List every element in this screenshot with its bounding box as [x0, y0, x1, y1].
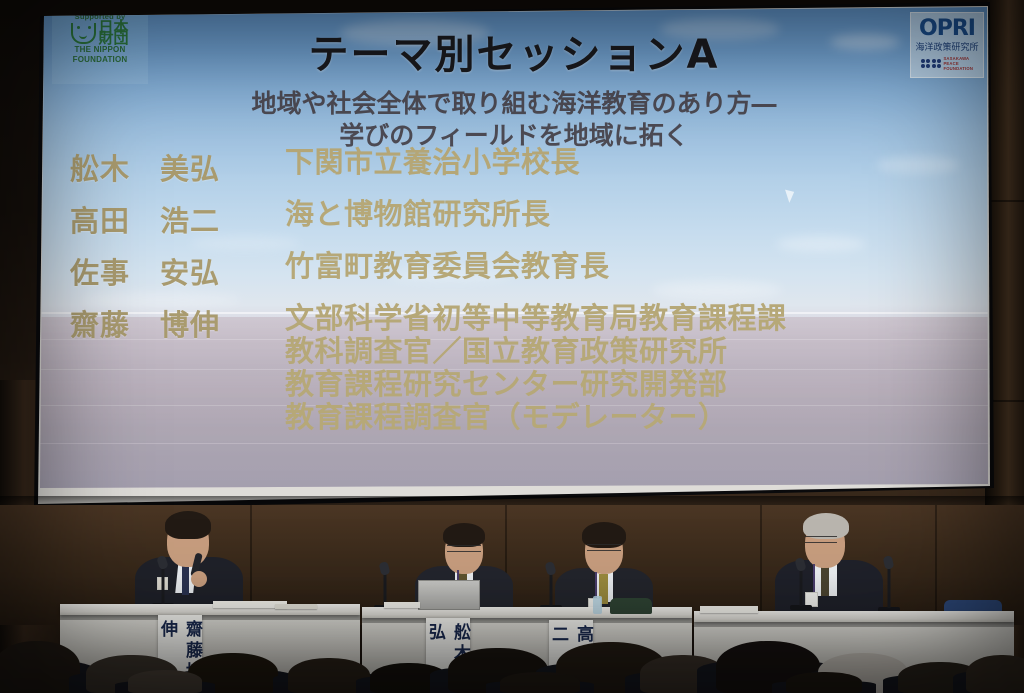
documents-left-2 — [275, 604, 317, 609]
audience-member — [0, 614, 80, 693]
projected-slide: テーマ別セッションA 地域や社会全体で取り組む海洋教育のあり方― 学びのフィール… — [40, 6, 988, 488]
sasakawa-foundation-name: SASAKAWA PEACE FOUNDATION — [943, 56, 973, 71]
speaker-affiliation: 文部科学省初等中等教育局教育課程課 教科調査官／国立教育政策研究所 教育課程研究… — [285, 302, 787, 434]
nippon-foundation-face-icon — [71, 23, 96, 44]
logo-name-line-1: THE NIPPON — [75, 45, 126, 55]
speaker-name: 佐事 安弘 — [70, 250, 285, 292]
water-bottle — [593, 596, 602, 614]
logo-name-line-2: FOUNDATION — [73, 55, 128, 65]
speaker-row: 齋藤 博伸 文部科学省初等中等教育局教育課程課 教科調査官／国立教育政策研究所 … — [70, 302, 970, 434]
sasakawa-dots-icon — [921, 59, 942, 69]
speaker-list: 舩木 美弘 下関市立養治小学校長 高田 浩二 海と博物館研究所長 佐事 安弘 竹… — [70, 146, 970, 444]
opri-logo: OPRI 海洋政策研究所 SASAKAWA PEACE FOUNDATION — [910, 12, 984, 78]
speaker-affiliation: 海と博物館研究所長 — [285, 198, 551, 231]
opri-acronym: OPRI — [919, 19, 975, 39]
speaker-row: 佐事 安弘 竹富町教育委員会教育長 — [70, 250, 970, 292]
audience-member — [966, 638, 1024, 693]
hand — [191, 571, 207, 587]
laptop — [418, 580, 480, 610]
photo-scene: テーマ別セッションA 地域や社会全体で取り組む海洋教育のあり方― 学びのフィール… — [0, 0, 1024, 693]
logo-kanji: 日本 財団 — [98, 22, 128, 44]
audience-member — [500, 664, 580, 693]
audience-member — [786, 664, 862, 693]
eyeglasses — [805, 536, 837, 543]
eyeglasses — [447, 545, 481, 552]
slide-title: テーマ別セッションA — [40, 22, 988, 80]
eyeglasses — [587, 544, 621, 551]
mic-stand-3 — [540, 562, 562, 610]
slide-subtitle-line-1: 地域や社会全体で取り組む海洋教育のあり方― — [40, 84, 988, 120]
speaker-name: 齋藤 博伸 — [70, 302, 285, 344]
nippon-foundation-logo: Supported by 日本 財団 THE NIPPON FOUNDATION — [52, 10, 148, 84]
speaker-row: 舩木 美弘 下関市立養治小学校長 — [70, 146, 970, 188]
documents-center — [384, 602, 420, 608]
speaker-row: 高田 浩二 海と博物館研究所長 — [70, 198, 970, 240]
opri-japanese-name: 海洋政策研究所 — [915, 40, 978, 53]
documents-right — [700, 606, 758, 613]
mic-stand-1 — [152, 556, 174, 608]
green-bag — [610, 598, 652, 614]
speaker-name: 高田 浩二 — [70, 198, 285, 240]
speaker-affiliation: 竹富町教育委員会教育長 — [285, 250, 610, 283]
audience-member — [128, 662, 202, 693]
mic-stand-4 — [790, 558, 812, 610]
speaker-name: 舩木 美弘 — [70, 146, 285, 188]
speaker-affiliation: 下関市立養治小学校長 — [285, 146, 580, 179]
mic-stand-5 — [878, 556, 900, 612]
